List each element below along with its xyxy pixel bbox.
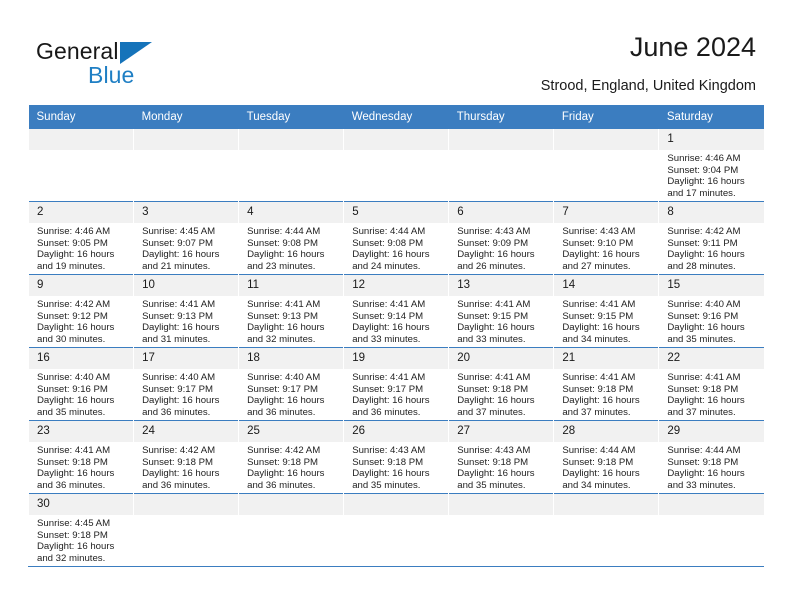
daylight-text-line1: Daylight: 16 hours xyxy=(37,249,133,261)
day-number: 9 xyxy=(29,275,133,296)
calendar-day-cell[interactable]: 15Sunrise: 4:40 AMSunset: 9:16 PMDayligh… xyxy=(659,275,764,348)
calendar-cell-empty xyxy=(134,494,239,567)
daylight-text-line2: and 34 minutes. xyxy=(562,480,658,492)
daylight-text-line1: Daylight: 16 hours xyxy=(457,468,553,480)
daylight-text-line2: and 31 minutes. xyxy=(142,334,238,346)
day-sun-info: Sunrise: 4:41 AMSunset: 9:14 PMDaylight:… xyxy=(344,296,448,345)
calendar-cell-empty xyxy=(554,494,659,567)
weekday-header-tuesday: Tuesday xyxy=(239,105,344,129)
day-number-placeholder xyxy=(344,129,448,150)
daylight-text-line1: Daylight: 16 hours xyxy=(37,468,133,480)
sunrise-text: Sunrise: 4:41 AM xyxy=(142,299,238,311)
daylight-text-line2: and 21 minutes. xyxy=(142,261,238,273)
day-number-placeholder xyxy=(344,494,448,515)
calendar-week-row: 1Sunrise: 4:46 AMSunset: 9:04 PMDaylight… xyxy=(29,129,765,202)
daylight-text-line2: and 36 minutes. xyxy=(142,407,238,419)
sunrise-text: Sunrise: 4:40 AM xyxy=(142,372,238,384)
day-number: 23 xyxy=(29,421,133,442)
sunset-text: Sunset: 9:09 PM xyxy=(457,238,553,250)
calendar-week-row: 16Sunrise: 4:40 AMSunset: 9:16 PMDayligh… xyxy=(29,348,765,421)
calendar-body: 1Sunrise: 4:46 AMSunset: 9:04 PMDaylight… xyxy=(29,129,765,567)
day-number-placeholder xyxy=(134,129,238,150)
sunset-text: Sunset: 9:18 PM xyxy=(247,457,343,469)
daylight-text-line1: Daylight: 16 hours xyxy=(142,322,238,334)
calendar-week-row: 30Sunrise: 4:45 AMSunset: 9:18 PMDayligh… xyxy=(29,494,765,567)
daylight-text-line2: and 34 minutes. xyxy=(562,334,658,346)
day-number: 4 xyxy=(239,202,343,223)
daylight-text-line2: and 37 minutes. xyxy=(562,407,658,419)
daylight-text-line2: and 33 minutes. xyxy=(352,334,448,346)
daylight-text-line1: Daylight: 16 hours xyxy=(667,176,764,188)
calendar-day-cell[interactable]: 2Sunrise: 4:46 AMSunset: 9:05 PMDaylight… xyxy=(29,202,134,275)
calendar-cell-empty xyxy=(134,129,239,202)
calendar-day-cell[interactable]: 13Sunrise: 4:41 AMSunset: 9:15 PMDayligh… xyxy=(449,275,554,348)
day-number: 13 xyxy=(449,275,553,296)
calendar-week-row: 23Sunrise: 4:41 AMSunset: 9:18 PMDayligh… xyxy=(29,421,765,494)
daylight-text-line2: and 32 minutes. xyxy=(247,334,343,346)
daylight-text-line1: Daylight: 16 hours xyxy=(562,395,658,407)
day-number: 5 xyxy=(344,202,448,223)
day-sun-info: Sunrise: 4:44 AMSunset: 9:08 PMDaylight:… xyxy=(344,223,448,272)
sunset-text: Sunset: 9:18 PM xyxy=(142,457,238,469)
sunset-text: Sunset: 9:08 PM xyxy=(352,238,448,250)
calendar-cell-empty xyxy=(29,129,134,202)
day-sun-info: Sunrise: 4:42 AMSunset: 9:18 PMDaylight:… xyxy=(239,442,343,491)
calendar-day-cell[interactable]: 11Sunrise: 4:41 AMSunset: 9:13 PMDayligh… xyxy=(239,275,344,348)
day-number: 24 xyxy=(134,421,238,442)
sunrise-text: Sunrise: 4:45 AM xyxy=(37,518,133,530)
calendar-day-cell[interactable]: 6Sunrise: 4:43 AMSunset: 9:09 PMDaylight… xyxy=(449,202,554,275)
calendar-cell-empty xyxy=(449,494,554,567)
calendar-day-cell[interactable]: 24Sunrise: 4:42 AMSunset: 9:18 PMDayligh… xyxy=(134,421,239,494)
daylight-text-line1: Daylight: 16 hours xyxy=(247,395,343,407)
day-sun-info: Sunrise: 4:42 AMSunset: 9:12 PMDaylight:… xyxy=(29,296,133,345)
day-number: 28 xyxy=(554,421,658,442)
day-number: 14 xyxy=(554,275,658,296)
sunrise-text: Sunrise: 4:44 AM xyxy=(667,445,764,457)
brand-name-general: General xyxy=(36,38,119,65)
sunrise-text: Sunrise: 4:44 AM xyxy=(352,226,448,238)
calendar-cell-empty xyxy=(449,129,554,202)
daylight-text-line1: Daylight: 16 hours xyxy=(457,249,553,261)
calendar-day-cell[interactable]: 29Sunrise: 4:44 AMSunset: 9:18 PMDayligh… xyxy=(659,421,764,494)
day-sun-info: Sunrise: 4:41 AMSunset: 9:13 PMDaylight:… xyxy=(239,296,343,345)
sunset-text: Sunset: 9:13 PM xyxy=(142,311,238,323)
calendar-day-cell[interactable]: 3Sunrise: 4:45 AMSunset: 9:07 PMDaylight… xyxy=(134,202,239,275)
sunset-text: Sunset: 9:05 PM xyxy=(37,238,133,250)
calendar-page: General Blue June 2024 Strood, England, … xyxy=(0,0,792,612)
calendar-cell-empty xyxy=(659,494,764,567)
calendar-cell-empty xyxy=(344,494,449,567)
weekday-header-sunday: Sunday xyxy=(29,105,134,129)
daylight-text-line1: Daylight: 16 hours xyxy=(37,541,133,553)
day-number: 29 xyxy=(659,421,764,442)
sunrise-text: Sunrise: 4:46 AM xyxy=(37,226,133,238)
sunrise-text: Sunrise: 4:41 AM xyxy=(667,372,764,384)
day-number: 1 xyxy=(659,129,764,150)
sunset-text: Sunset: 9:16 PM xyxy=(667,311,764,323)
day-sun-info: Sunrise: 4:45 AMSunset: 9:18 PMDaylight:… xyxy=(29,515,133,564)
page-header: General Blue June 2024 Strood, England, … xyxy=(0,0,792,104)
sunrise-text: Sunrise: 4:43 AM xyxy=(457,226,553,238)
daylight-text-line2: and 30 minutes. xyxy=(37,334,133,346)
sunrise-text: Sunrise: 4:42 AM xyxy=(142,445,238,457)
calendar-day-cell[interactable]: 19Sunrise: 4:41 AMSunset: 9:17 PMDayligh… xyxy=(344,348,449,421)
day-number-placeholder xyxy=(449,494,553,515)
sunset-text: Sunset: 9:08 PM xyxy=(247,238,343,250)
calendar-day-cell[interactable]: 25Sunrise: 4:42 AMSunset: 9:18 PMDayligh… xyxy=(239,421,344,494)
sunrise-text: Sunrise: 4:41 AM xyxy=(37,445,133,457)
daylight-text-line1: Daylight: 16 hours xyxy=(142,395,238,407)
day-number: 20 xyxy=(449,348,553,369)
brand-name-blue: Blue xyxy=(88,62,134,89)
daylight-text-line1: Daylight: 16 hours xyxy=(247,468,343,480)
daylight-text-line2: and 36 minutes. xyxy=(247,407,343,419)
day-number: 3 xyxy=(134,202,238,223)
sunset-text: Sunset: 9:17 PM xyxy=(247,384,343,396)
calendar-cell-empty xyxy=(239,494,344,567)
day-sun-info: Sunrise: 4:46 AMSunset: 9:05 PMDaylight:… xyxy=(29,223,133,272)
sunset-text: Sunset: 9:18 PM xyxy=(37,530,133,542)
daylight-text-line2: and 32 minutes. xyxy=(37,553,133,565)
daylight-text-line1: Daylight: 16 hours xyxy=(457,395,553,407)
sunset-text: Sunset: 9:15 PM xyxy=(562,311,658,323)
calendar-cell-empty xyxy=(344,129,449,202)
sunrise-text: Sunrise: 4:41 AM xyxy=(457,372,553,384)
daylight-text-line2: and 28 minutes. xyxy=(667,261,764,273)
sunrise-text: Sunrise: 4:44 AM xyxy=(562,445,658,457)
sunset-text: Sunset: 9:13 PM xyxy=(247,311,343,323)
sunrise-text: Sunrise: 4:42 AM xyxy=(667,226,764,238)
day-number: 27 xyxy=(449,421,553,442)
day-sun-info: Sunrise: 4:41 AMSunset: 9:13 PMDaylight:… xyxy=(134,296,238,345)
daylight-text-line2: and 26 minutes. xyxy=(457,261,553,273)
calendar-cell-empty xyxy=(554,129,659,202)
daylight-text-line1: Daylight: 16 hours xyxy=(142,468,238,480)
day-sun-info: Sunrise: 4:41 AMSunset: 9:18 PMDaylight:… xyxy=(29,442,133,491)
daylight-text-line2: and 37 minutes. xyxy=(457,407,553,419)
daylight-text-line2: and 35 minutes. xyxy=(37,407,133,419)
day-sun-info: Sunrise: 4:41 AMSunset: 9:18 PMDaylight:… xyxy=(659,369,764,418)
day-number-placeholder xyxy=(134,494,238,515)
daylight-text-line1: Daylight: 16 hours xyxy=(352,395,448,407)
sunset-text: Sunset: 9:18 PM xyxy=(457,384,553,396)
daylight-text-line1: Daylight: 16 hours xyxy=(142,249,238,261)
calendar-day-cell[interactable]: 5Sunrise: 4:44 AMSunset: 9:08 PMDaylight… xyxy=(344,202,449,275)
daylight-text-line2: and 36 minutes. xyxy=(247,480,343,492)
daylight-text-line2: and 33 minutes. xyxy=(457,334,553,346)
daylight-text-line2: and 35 minutes. xyxy=(457,480,553,492)
calendar-day-cell[interactable]: 14Sunrise: 4:41 AMSunset: 9:15 PMDayligh… xyxy=(554,275,659,348)
day-sun-info: Sunrise: 4:42 AMSunset: 9:11 PMDaylight:… xyxy=(659,223,764,272)
daylight-text-line1: Daylight: 16 hours xyxy=(562,249,658,261)
day-number: 16 xyxy=(29,348,133,369)
daylight-text-line1: Daylight: 16 hours xyxy=(352,468,448,480)
calendar-day-cell[interactable]: 23Sunrise: 4:41 AMSunset: 9:18 PMDayligh… xyxy=(29,421,134,494)
sunrise-text: Sunrise: 4:43 AM xyxy=(457,445,553,457)
day-number: 25 xyxy=(239,421,343,442)
brand-triangle-icon xyxy=(120,42,152,64)
day-sun-info: Sunrise: 4:40 AMSunset: 9:17 PMDaylight:… xyxy=(134,369,238,418)
sunrise-text: Sunrise: 4:41 AM xyxy=(247,299,343,311)
day-sun-info: Sunrise: 4:43 AMSunset: 9:18 PMDaylight:… xyxy=(449,442,553,491)
day-number: 8 xyxy=(659,202,764,223)
calendar-day-cell[interactable]: 27Sunrise: 4:43 AMSunset: 9:18 PMDayligh… xyxy=(449,421,554,494)
calendar-week-row: 2Sunrise: 4:46 AMSunset: 9:05 PMDaylight… xyxy=(29,202,765,275)
calendar-table: SundayMondayTuesdayWednesdayThursdayFrid… xyxy=(28,105,764,567)
daylight-text-line2: and 37 minutes. xyxy=(667,407,764,419)
daylight-text-line1: Daylight: 16 hours xyxy=(562,468,658,480)
calendar-day-cell[interactable]: 16Sunrise: 4:40 AMSunset: 9:16 PMDayligh… xyxy=(29,348,134,421)
weekday-header-saturday: Saturday xyxy=(659,105,764,129)
daylight-text-line1: Daylight: 16 hours xyxy=(37,395,133,407)
daylight-text-line2: and 35 minutes. xyxy=(667,334,764,346)
day-sun-info: Sunrise: 4:42 AMSunset: 9:18 PMDaylight:… xyxy=(134,442,238,491)
daylight-text-line2: and 33 minutes. xyxy=(667,480,764,492)
sunset-text: Sunset: 9:17 PM xyxy=(142,384,238,396)
sunset-text: Sunset: 9:18 PM xyxy=(667,457,764,469)
day-number-placeholder xyxy=(239,494,343,515)
day-sun-info: Sunrise: 4:43 AMSunset: 9:10 PMDaylight:… xyxy=(554,223,658,272)
day-number: 26 xyxy=(344,421,448,442)
day-number-placeholder xyxy=(554,494,658,515)
day-sun-info: Sunrise: 4:40 AMSunset: 9:16 PMDaylight:… xyxy=(29,369,133,418)
day-sun-info: Sunrise: 4:44 AMSunset: 9:08 PMDaylight:… xyxy=(239,223,343,272)
sunrise-text: Sunrise: 4:43 AM xyxy=(562,226,658,238)
daylight-text-line1: Daylight: 16 hours xyxy=(247,249,343,261)
daylight-text-line1: Daylight: 16 hours xyxy=(37,322,133,334)
calendar-day-cell[interactable]: 17Sunrise: 4:40 AMSunset: 9:17 PMDayligh… xyxy=(134,348,239,421)
sunset-text: Sunset: 9:04 PM xyxy=(667,165,764,177)
daylight-text-line2: and 27 minutes. xyxy=(562,261,658,273)
daylight-text-line1: Daylight: 16 hours xyxy=(667,468,764,480)
daylight-text-line1: Daylight: 16 hours xyxy=(352,322,448,334)
day-sun-info: Sunrise: 4:41 AMSunset: 9:18 PMDaylight:… xyxy=(449,369,553,418)
sunrise-text: Sunrise: 4:40 AM xyxy=(667,299,764,311)
calendar-day-cell[interactable]: 4Sunrise: 4:44 AMSunset: 9:08 PMDaylight… xyxy=(239,202,344,275)
day-sun-info: Sunrise: 4:41 AMSunset: 9:17 PMDaylight:… xyxy=(344,369,448,418)
sunset-text: Sunset: 9:11 PM xyxy=(667,238,764,250)
sunset-text: Sunset: 9:18 PM xyxy=(457,457,553,469)
day-number: 22 xyxy=(659,348,764,369)
daylight-text-line1: Daylight: 16 hours xyxy=(247,322,343,334)
calendar-day-cell[interactable]: 26Sunrise: 4:43 AMSunset: 9:18 PMDayligh… xyxy=(344,421,449,494)
calendar-week-row: 9Sunrise: 4:42 AMSunset: 9:12 PMDaylight… xyxy=(29,275,765,348)
day-sun-info: Sunrise: 4:43 AMSunset: 9:09 PMDaylight:… xyxy=(449,223,553,272)
daylight-text-line1: Daylight: 16 hours xyxy=(667,322,764,334)
daylight-text-line1: Daylight: 16 hours xyxy=(667,249,764,261)
day-number: 2 xyxy=(29,202,133,223)
calendar-day-cell[interactable]: 20Sunrise: 4:41 AMSunset: 9:18 PMDayligh… xyxy=(449,348,554,421)
sunset-text: Sunset: 9:16 PM xyxy=(37,384,133,396)
calendar-day-cell[interactable]: 28Sunrise: 4:44 AMSunset: 9:18 PMDayligh… xyxy=(554,421,659,494)
sunset-text: Sunset: 9:15 PM xyxy=(457,311,553,323)
page-title: June 2024 xyxy=(630,32,756,63)
day-number: 11 xyxy=(239,275,343,296)
sunset-text: Sunset: 9:07 PM xyxy=(142,238,238,250)
day-number: 19 xyxy=(344,348,448,369)
day-number: 17 xyxy=(134,348,238,369)
day-sun-info: Sunrise: 4:43 AMSunset: 9:18 PMDaylight:… xyxy=(344,442,448,491)
sunrise-text: Sunrise: 4:42 AM xyxy=(37,299,133,311)
brand-logo[interactable]: General Blue xyxy=(36,38,216,94)
day-sun-info: Sunrise: 4:44 AMSunset: 9:18 PMDaylight:… xyxy=(659,442,764,491)
daylight-text-line1: Daylight: 16 hours xyxy=(562,322,658,334)
sunrise-text: Sunrise: 4:46 AM xyxy=(667,153,764,165)
daylight-text-line2: and 24 minutes. xyxy=(352,261,448,273)
calendar-day-cell[interactable]: 1Sunrise: 4:46 AMSunset: 9:04 PMDaylight… xyxy=(659,129,764,202)
day-sun-info: Sunrise: 4:41 AMSunset: 9:15 PMDaylight:… xyxy=(449,296,553,345)
weekday-header-friday: Friday xyxy=(554,105,659,129)
day-number: 21 xyxy=(554,348,658,369)
sunrise-text: Sunrise: 4:42 AM xyxy=(247,445,343,457)
daylight-text-line1: Daylight: 16 hours xyxy=(352,249,448,261)
day-number: 18 xyxy=(239,348,343,369)
sunrise-text: Sunrise: 4:40 AM xyxy=(37,372,133,384)
day-number: 12 xyxy=(344,275,448,296)
daylight-text-line2: and 36 minutes. xyxy=(37,480,133,492)
day-number: 7 xyxy=(554,202,658,223)
sunset-text: Sunset: 9:18 PM xyxy=(37,457,133,469)
calendar-day-cell[interactable]: 18Sunrise: 4:40 AMSunset: 9:17 PMDayligh… xyxy=(239,348,344,421)
sunset-text: Sunset: 9:18 PM xyxy=(667,384,764,396)
sunset-text: Sunset: 9:14 PM xyxy=(352,311,448,323)
day-number-placeholder xyxy=(239,129,343,150)
daylight-text-line2: and 17 minutes. xyxy=(667,188,764,200)
sunrise-text: Sunrise: 4:41 AM xyxy=(352,299,448,311)
daylight-text-line1: Daylight: 16 hours xyxy=(457,322,553,334)
day-number-placeholder xyxy=(29,129,133,150)
day-sun-info: Sunrise: 4:41 AMSunset: 9:15 PMDaylight:… xyxy=(554,296,658,345)
weekday-header-monday: Monday xyxy=(134,105,239,129)
day-sun-info: Sunrise: 4:40 AMSunset: 9:17 PMDaylight:… xyxy=(239,369,343,418)
day-sun-info: Sunrise: 4:40 AMSunset: 9:16 PMDaylight:… xyxy=(659,296,764,345)
day-sun-info: Sunrise: 4:45 AMSunset: 9:07 PMDaylight:… xyxy=(134,223,238,272)
sunset-text: Sunset: 9:18 PM xyxy=(562,384,658,396)
calendar-day-cell[interactable]: 22Sunrise: 4:41 AMSunset: 9:18 PMDayligh… xyxy=(659,348,764,421)
daylight-text-line2: and 35 minutes. xyxy=(352,480,448,492)
sunrise-text: Sunrise: 4:44 AM xyxy=(247,226,343,238)
day-number: 15 xyxy=(659,275,764,296)
day-number: 6 xyxy=(449,202,553,223)
daylight-text-line2: and 36 minutes. xyxy=(142,480,238,492)
sunrise-text: Sunrise: 4:41 AM xyxy=(352,372,448,384)
day-number-placeholder xyxy=(554,129,658,150)
sunset-text: Sunset: 9:10 PM xyxy=(562,238,658,250)
sunset-text: Sunset: 9:18 PM xyxy=(562,457,658,469)
sunrise-text: Sunrise: 4:43 AM xyxy=(352,445,448,457)
weekday-header-wednesday: Wednesday xyxy=(344,105,449,129)
day-number-placeholder xyxy=(659,494,764,515)
day-sun-info: Sunrise: 4:44 AMSunset: 9:18 PMDaylight:… xyxy=(554,442,658,491)
daylight-text-line2: and 19 minutes. xyxy=(37,261,133,273)
daylight-text-line2: and 36 minutes. xyxy=(352,407,448,419)
calendar-day-cell[interactable]: 9Sunrise: 4:42 AMSunset: 9:12 PMDaylight… xyxy=(29,275,134,348)
sunset-text: Sunset: 9:12 PM xyxy=(37,311,133,323)
calendar-day-cell[interactable]: 30Sunrise: 4:45 AMSunset: 9:18 PMDayligh… xyxy=(29,494,134,567)
sunrise-text: Sunrise: 4:41 AM xyxy=(457,299,553,311)
calendar-cell-empty xyxy=(239,129,344,202)
calendar-day-cell[interactable]: 8Sunrise: 4:42 AMSunset: 9:11 PMDaylight… xyxy=(659,202,764,275)
sunrise-text: Sunrise: 4:41 AM xyxy=(562,299,658,311)
calendar-day-cell[interactable]: 7Sunrise: 4:43 AMSunset: 9:10 PMDaylight… xyxy=(554,202,659,275)
sunrise-text: Sunrise: 4:45 AM xyxy=(142,226,238,238)
day-sun-info: Sunrise: 4:46 AMSunset: 9:04 PMDaylight:… xyxy=(659,150,764,199)
calendar-day-cell[interactable]: 12Sunrise: 4:41 AMSunset: 9:14 PMDayligh… xyxy=(344,275,449,348)
day-number: 30 xyxy=(29,494,133,515)
sunrise-text: Sunrise: 4:40 AM xyxy=(247,372,343,384)
weekday-header-thursday: Thursday xyxy=(449,105,554,129)
calendar-day-cell[interactable]: 21Sunrise: 4:41 AMSunset: 9:18 PMDayligh… xyxy=(554,348,659,421)
day-number: 10 xyxy=(134,275,238,296)
sunset-text: Sunset: 9:18 PM xyxy=(352,457,448,469)
page-subtitle: Strood, England, United Kingdom xyxy=(541,78,756,94)
calendar-day-cell[interactable]: 10Sunrise: 4:41 AMSunset: 9:13 PMDayligh… xyxy=(134,275,239,348)
daylight-text-line2: and 23 minutes. xyxy=(247,261,343,273)
daylight-text-line1: Daylight: 16 hours xyxy=(667,395,764,407)
day-number-placeholder xyxy=(449,129,553,150)
sunrise-text: Sunrise: 4:41 AM xyxy=(562,372,658,384)
day-sun-info: Sunrise: 4:41 AMSunset: 9:18 PMDaylight:… xyxy=(554,369,658,418)
sunset-text: Sunset: 9:17 PM xyxy=(352,384,448,396)
weekday-header: SundayMondayTuesdayWednesdayThursdayFrid… xyxy=(29,105,765,129)
calendar-header-row: SundayMondayTuesdayWednesdayThursdayFrid… xyxy=(29,105,765,129)
